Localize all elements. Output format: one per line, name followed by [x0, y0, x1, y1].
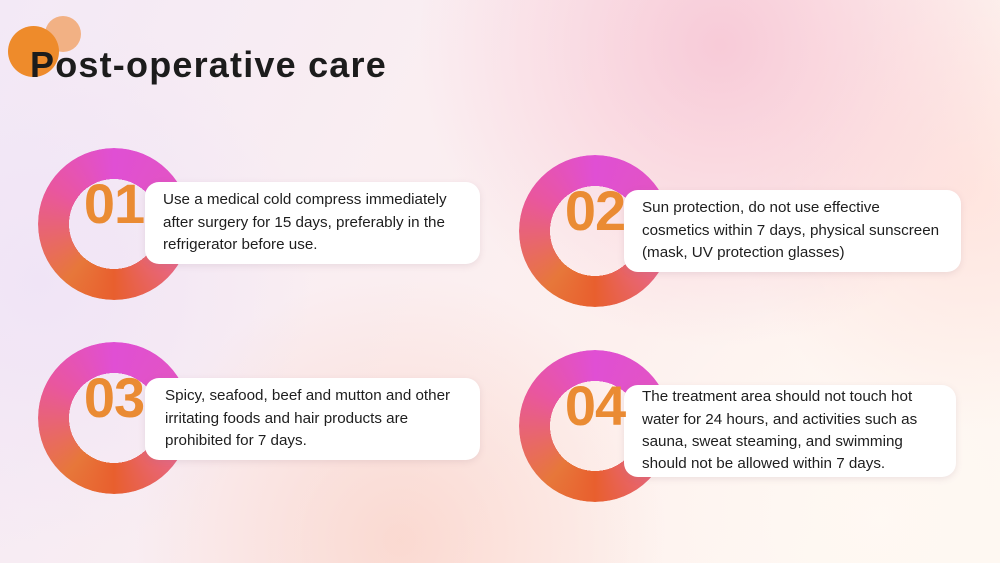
care-card-01: Use a medical cold compress immediately … [145, 182, 480, 264]
item-number-02: 02 [533, 183, 657, 239]
care-card-02: Sun protection, do not use effective cos… [624, 190, 961, 272]
item-number-04: 04 [533, 378, 657, 434]
care-card-text-04: The treatment area should not touch hot … [642, 386, 942, 475]
slide-canvas: Post-operative care 01 Use a medical col… [0, 0, 1000, 563]
care-card-text-02: Sun protection, do not use effective cos… [642, 197, 947, 264]
care-card-03: Spicy, seafood, beef and mutton and othe… [145, 378, 480, 460]
page-title: Post-operative care [30, 44, 387, 86]
care-card-04: The treatment area should not touch hot … [624, 385, 956, 477]
item-number-03: 03 [52, 370, 176, 426]
care-card-text-03: Spicy, seafood, beef and mutton and othe… [165, 385, 464, 452]
item-number-01: 01 [52, 176, 176, 232]
care-card-text-01: Use a medical cold compress immediately … [163, 189, 464, 256]
